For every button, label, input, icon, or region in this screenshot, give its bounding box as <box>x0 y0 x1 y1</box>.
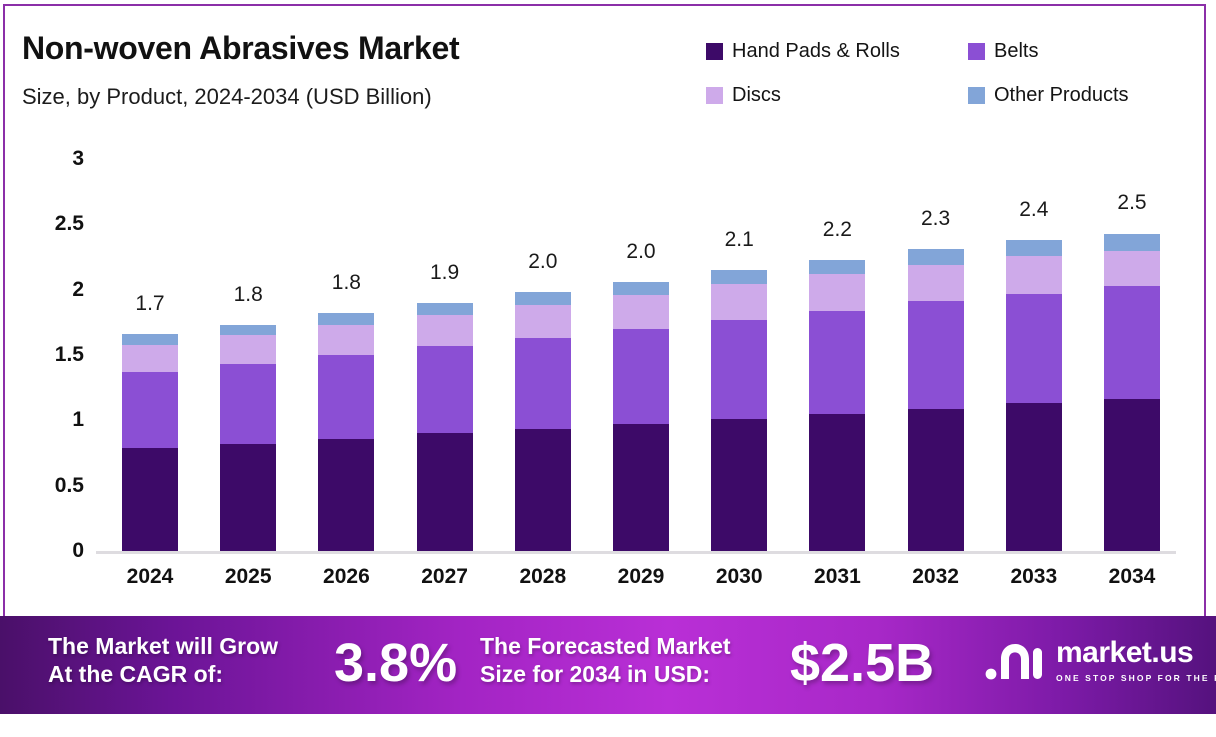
bar-segment[interactable] <box>711 419 767 551</box>
bar-segment[interactable] <box>122 448 178 551</box>
bar-stack[interactable] <box>613 282 669 551</box>
bar-value-label: 2.4 <box>989 198 1079 222</box>
bar-segment[interactable] <box>220 364 276 444</box>
bar-value-label: 2.5 <box>1087 191 1177 215</box>
bar-segment[interactable] <box>1104 234 1160 251</box>
bar-segment[interactable] <box>417 315 473 346</box>
bar-segment[interactable] <box>1104 251 1160 286</box>
bar-segment[interactable] <box>1006 294 1062 404</box>
bar-segment[interactable] <box>318 325 374 355</box>
bar-segment[interactable] <box>1104 286 1160 400</box>
bar-stack[interactable] <box>515 292 571 551</box>
bar-segment[interactable] <box>1006 256 1062 294</box>
bar-segment[interactable] <box>908 249 964 265</box>
bar-segment[interactable] <box>417 346 473 434</box>
bar-stack[interactable] <box>809 260 865 551</box>
x-axis-tick-label: 2033 <box>989 565 1079 589</box>
bar-stack[interactable] <box>417 303 473 551</box>
bar-segment[interactable] <box>613 295 669 329</box>
bar-segment[interactable] <box>908 409 964 551</box>
x-axis-tick-label: 2025 <box>203 565 293 589</box>
bars-container: 1.720241.820251.820261.920272.020282.020… <box>0 0 1216 612</box>
bar-segment[interactable] <box>515 292 571 305</box>
cagr-caption-line2: At the CAGR of: <box>48 660 278 688</box>
bar-value-label: 1.8 <box>301 271 391 295</box>
bar-segment[interactable] <box>711 270 767 284</box>
bar-segment[interactable] <box>122 345 178 372</box>
x-axis-tick-label: 2034 <box>1087 565 1177 589</box>
logo-name: market.us <box>1056 638 1216 668</box>
bar-value-label: 1.7 <box>105 292 195 316</box>
logo-tagline: ONE STOP SHOP FOR THE REPORTS <box>1056 673 1216 683</box>
bar-segment[interactable] <box>122 372 178 448</box>
bar-segment[interactable] <box>318 355 374 439</box>
forecast-caption-line2: Size for 2034 in USD: <box>480 660 731 688</box>
x-axis-tick-label: 2028 <box>498 565 588 589</box>
bar-value-label: 2.1 <box>694 228 784 252</box>
bar-value-label: 1.9 <box>400 261 490 285</box>
x-axis-tick-label: 2029 <box>596 565 686 589</box>
bar-stack[interactable] <box>1006 240 1062 551</box>
bar-segment[interactable] <box>122 334 178 344</box>
cagr-value: 3.8% <box>334 632 457 694</box>
bar-stack[interactable] <box>1104 234 1160 551</box>
chart-page: Non-woven Abrasives Market Size, by Prod… <box>0 0 1216 737</box>
bar-segment[interactable] <box>809 311 865 414</box>
bar-stack[interactable] <box>318 313 374 551</box>
bar-segment[interactable] <box>318 313 374 325</box>
bar-segment[interactable] <box>417 433 473 551</box>
bar-segment[interactable] <box>908 265 964 302</box>
bar-segment[interactable] <box>1104 399 1160 551</box>
bar-segment[interactable] <box>711 284 767 319</box>
x-axis-tick-label: 2024 <box>105 565 195 589</box>
bar-segment[interactable] <box>613 424 669 551</box>
forecast-caption: The Forecasted Market Size for 2034 in U… <box>480 632 731 688</box>
bar-stack[interactable] <box>220 325 276 551</box>
bar-stack[interactable] <box>122 334 178 551</box>
cagr-caption: The Market will Grow At the CAGR of: <box>48 632 278 688</box>
bar-segment[interactable] <box>417 303 473 315</box>
bar-segment[interactable] <box>908 301 964 408</box>
logo-text: market.us ONE STOP SHOP FOR THE REPORTS <box>1056 638 1216 683</box>
bar-segment[interactable] <box>220 325 276 335</box>
bar-segment[interactable] <box>1006 240 1062 256</box>
bar-value-label: 2.3 <box>891 207 981 231</box>
bar-segment[interactable] <box>711 320 767 419</box>
bar-segment[interactable] <box>515 429 571 551</box>
bar-segment[interactable] <box>1006 403 1062 551</box>
x-axis-tick-label: 2026 <box>301 565 391 589</box>
x-axis-tick-label: 2032 <box>891 565 981 589</box>
bar-stack[interactable] <box>711 270 767 551</box>
bar-value-label: 2.0 <box>596 240 686 264</box>
bar-value-label: 1.8 <box>203 283 293 307</box>
cagr-caption-line1: The Market will Grow <box>48 632 278 660</box>
bar-segment[interactable] <box>809 260 865 274</box>
bar-segment[interactable] <box>318 439 374 551</box>
bar-segment[interactable] <box>220 444 276 551</box>
bar-segment[interactable] <box>613 282 669 295</box>
bar-segment[interactable] <box>515 338 571 429</box>
bar-value-label: 2.0 <box>498 250 588 274</box>
x-axis-tick-label: 2030 <box>694 565 784 589</box>
forecast-value: $2.5B <box>790 632 934 694</box>
bar-segment[interactable] <box>809 414 865 551</box>
bar-segment[interactable] <box>809 274 865 311</box>
market-us-logo[interactable]: market.us ONE STOP SHOP FOR THE REPORTS <box>984 637 1216 683</box>
bar-segment[interactable] <box>220 335 276 364</box>
bar-segment[interactable] <box>613 329 669 424</box>
forecast-caption-line1: The Forecasted Market <box>480 632 731 660</box>
bar-segment[interactable] <box>515 305 571 338</box>
bar-stack[interactable] <box>908 249 964 551</box>
x-axis-tick-label: 2027 <box>400 565 490 589</box>
x-axis-tick-label: 2031 <box>792 565 882 589</box>
plot-area: 32.521.510.50 1.720241.820251.820261.920… <box>0 0 1216 612</box>
logo-bars-icon <box>984 637 1046 683</box>
bar-value-label: 2.2 <box>792 218 882 242</box>
